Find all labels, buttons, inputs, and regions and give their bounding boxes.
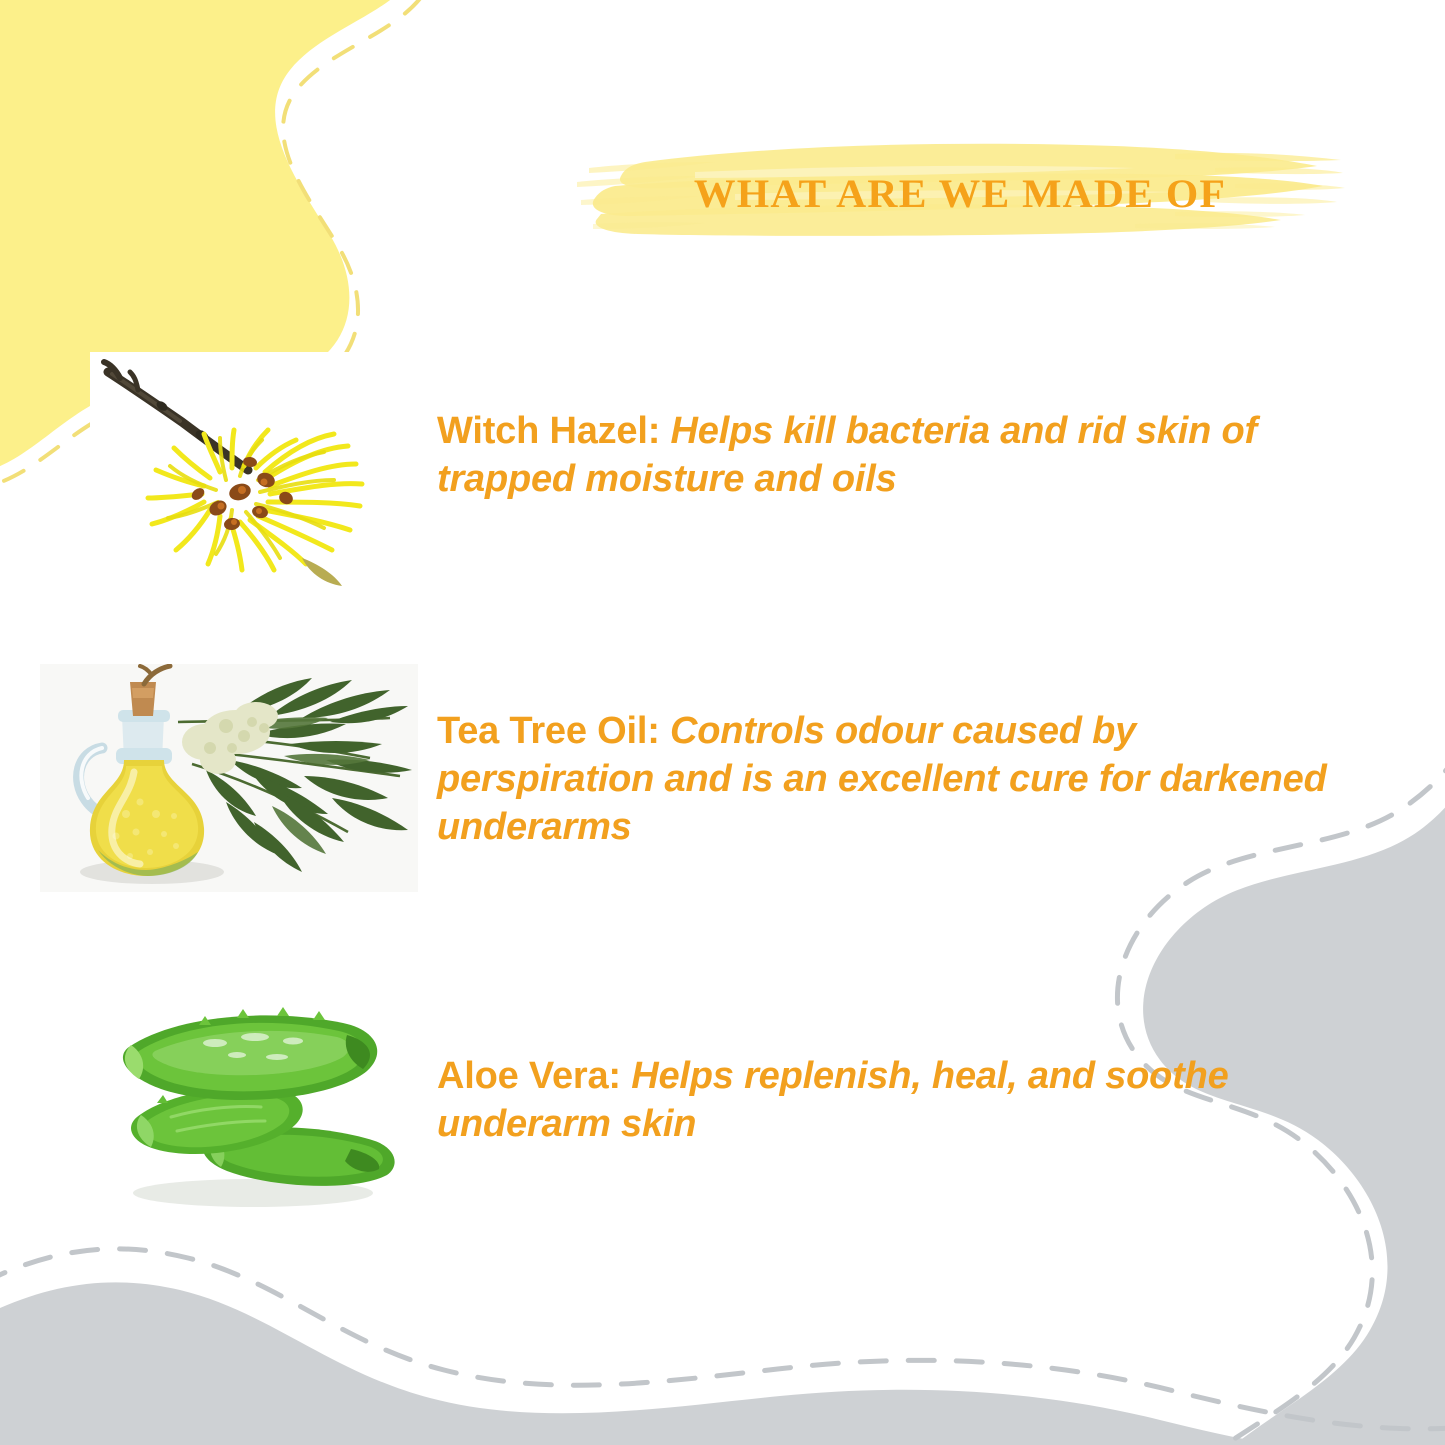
gray-blob-bottom-shape <box>0 1282 1445 1445</box>
aloe-vera-photo <box>95 985 415 1215</box>
ingredient-name: Witch Hazel: <box>437 410 660 452</box>
infographic-canvas: WHAT ARE WE MADE OF <box>0 0 1445 1445</box>
aloe-vera-text: Aloe Vera: Helps replenish, heal, and so… <box>437 1053 1297 1149</box>
tea-tree-oil-photo <box>40 664 418 892</box>
ingredient-row-tea-tree-oil: Tea Tree Oil: Controls odour caused by p… <box>40 664 1360 892</box>
ingredient-row-witch-hazel: Witch Hazel: Helps kill bacteria and rid… <box>90 352 1360 592</box>
gray-dashed-path-bottom <box>0 1249 1445 1429</box>
ingredient-row-aloe-vera: Aloe Vera: Helps replenish, heal, and so… <box>95 985 1365 1215</box>
witch-hazel-photo <box>90 352 410 592</box>
witch-hazel-text: Witch Hazel: Helps kill bacteria and rid… <box>437 408 1337 504</box>
ingredient-name: Aloe Vera: <box>437 1055 621 1097</box>
ingredient-name: Tea Tree Oil: <box>437 710 660 752</box>
title-banner: WHAT ARE WE MADE OF <box>575 128 1345 248</box>
page-title: WHAT ARE WE MADE OF <box>560 170 1361 217</box>
tea-tree-oil-text: Tea Tree Oil: Controls odour caused by p… <box>437 708 1347 852</box>
